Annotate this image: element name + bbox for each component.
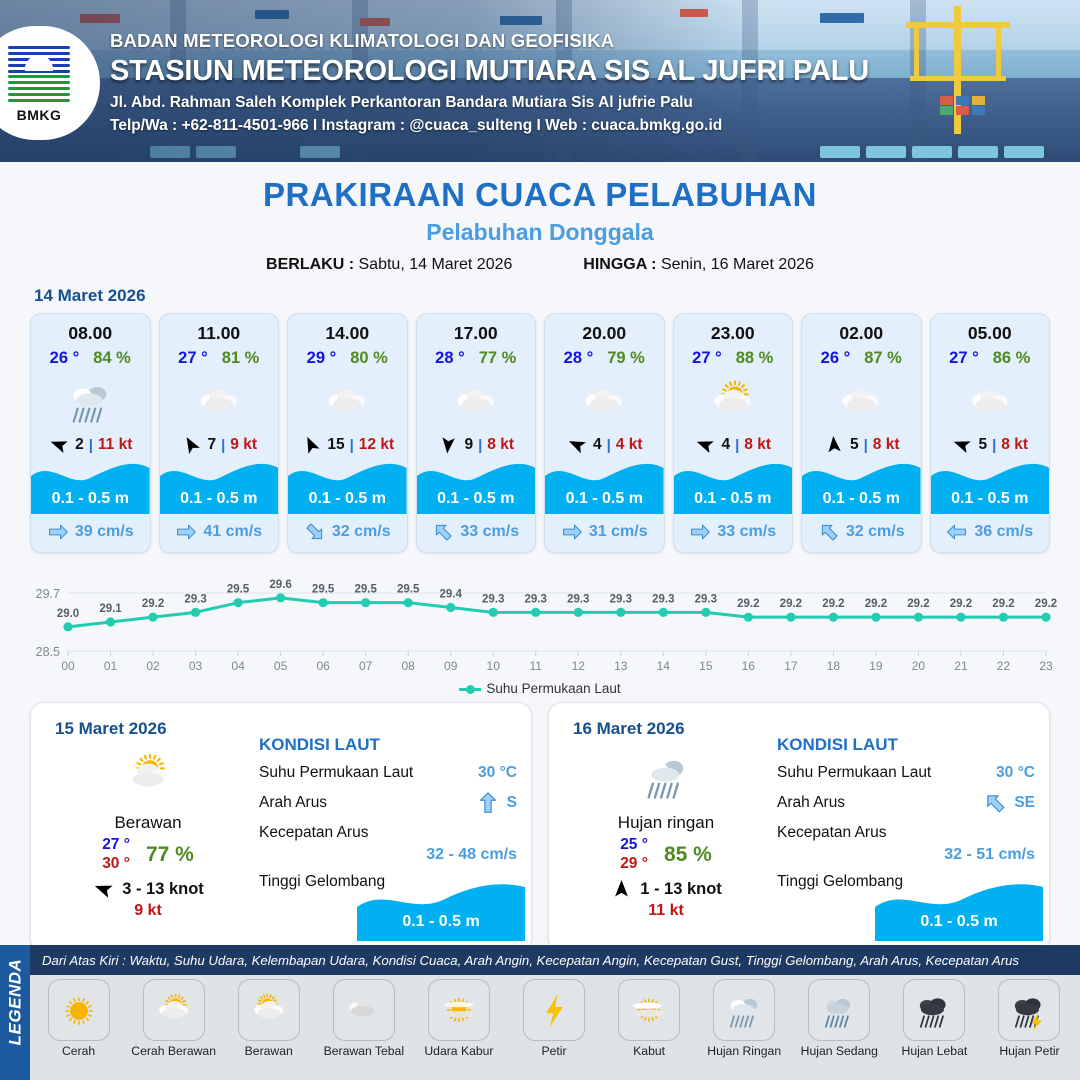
svg-text:29.3: 29.3: [610, 593, 632, 605]
svg-text:22: 22: [997, 659, 1011, 673]
card-wind-row: 9|8 kt: [417, 436, 536, 454]
legend-icon-box: [143, 979, 205, 1041]
panel-temp-min: 27 °: [102, 836, 130, 854]
card-temp-hum-row: 28 °77 %: [417, 349, 536, 368]
hourly-card: 08.0026 °84 %2|11 kt0.1 - 0.5 m39 cm/s: [30, 313, 151, 553]
legend-icon-box: [523, 979, 585, 1041]
weather-icon-hujan-ringan: [633, 749, 699, 803]
card-wind-speed: 8 kt: [744, 436, 771, 454]
svg-text:01: 01: [104, 659, 118, 673]
wind-direction-icon: [566, 436, 588, 454]
svg-text:05: 05: [274, 659, 288, 673]
card-temperature: 26 °: [821, 349, 851, 368]
legend-icon-box: [808, 979, 870, 1041]
card-wind-row: 7|9 kt: [160, 436, 279, 454]
hourly-card: 23.0027 °88 %4|8 kt0.1 - 0.5 m33 cm/s: [673, 313, 794, 553]
svg-text:29.2: 29.2: [142, 598, 164, 610]
sst-chart-svg: 29.728.500010203040506070809101112131415…: [20, 567, 1060, 679]
card-wind-degree: 15: [327, 436, 344, 454]
berlaku-label: BERLAKU :: [266, 256, 354, 273]
weather-icon-berawan-sun: [244, 990, 294, 1031]
panel-sst-row: Suhu Permukaan Laut30 °C: [259, 764, 517, 782]
svg-text:29.2: 29.2: [737, 598, 759, 610]
svg-text:15: 15: [699, 659, 713, 673]
panel-humidity: 77 %: [146, 843, 194, 867]
card-wind-separator: |: [864, 437, 868, 454]
card-hour: 11.00: [160, 323, 279, 344]
weather-icon-hujan-ringan: [719, 990, 769, 1031]
chart-legend-label: Suhu Permukaan Laut: [486, 681, 620, 696]
panel-wave-value: 0.1 - 0.5 m: [875, 913, 1043, 931]
panel-temps: 25 °29 °: [620, 836, 648, 873]
legend-item-label: Hujan Sedang: [795, 1044, 884, 1058]
legend-item: Cerah: [34, 979, 123, 1058]
svg-text:11: 11: [530, 659, 543, 673]
card-wind-speed: 11 kt: [98, 436, 132, 454]
page-subtitle: Pelabuhan Donggala: [0, 219, 1080, 246]
card-temperature: 26 °: [50, 349, 80, 368]
card-wave-height: 0.1 - 0.5 m: [31, 490, 150, 508]
panel-current-dir-value: SE: [1014, 794, 1035, 812]
legend-side-label: LEGENDA: [6, 955, 26, 1050]
svg-text:12: 12: [572, 659, 586, 673]
card-hour: 14.00: [288, 323, 407, 344]
panel-left-block: Hujan ringan25 °29 °85 %1 - 13 knot11 kt: [561, 745, 771, 920]
legend-caption: Dari Atas Kiri : Waktu, Suhu Udara, Kele…: [30, 945, 1080, 975]
svg-text:23: 23: [1039, 659, 1053, 673]
card-current-speed: 41 cm/s: [203, 523, 262, 541]
svg-text:29.2: 29.2: [780, 598, 802, 610]
header-text-block: BADAN METEOROLOGI KLIMATOLOGI DAN GEOFIS…: [110, 30, 869, 135]
card-wind-arrow: [437, 436, 459, 454]
current-direction-icon: [476, 791, 500, 815]
current-direction-icon: [304, 521, 326, 543]
legend-item: Kabut: [605, 979, 694, 1058]
card-wind-arrow: [951, 436, 973, 454]
card-wind-speed: 8 kt: [1001, 436, 1028, 454]
card-weather-icon: [31, 370, 150, 432]
card-wind-arrow: [300, 436, 322, 454]
legend-icon-box: [48, 979, 110, 1041]
card-wave-height: 0.1 - 0.5 m: [674, 490, 793, 508]
panel-date: 15 Maret 2026: [55, 719, 167, 739]
wind-direction-icon: [437, 436, 459, 454]
header-chair: [866, 146, 906, 158]
header-chair: [958, 146, 998, 158]
header-container: [972, 96, 985, 105]
panel-current-spd-value: 32 - 48 cm/s: [259, 846, 517, 864]
card-current-speed: 33 cm/s: [717, 523, 776, 541]
page-header: BMKG BADAN METEOROLOGI KLIMATOLOGI DAN G…: [0, 0, 1080, 162]
card-wind-separator: |: [992, 437, 996, 454]
wind-direction-icon: [951, 436, 973, 454]
svg-text:29.6: 29.6: [269, 579, 291, 591]
svg-text:29.3: 29.3: [525, 593, 547, 605]
panel-temp-max: 29 °: [620, 855, 648, 873]
legend-item-label: Kabut: [605, 1044, 694, 1058]
panel-sea-title: KONDISI LAUT: [259, 735, 517, 755]
card-temp-hum-row: 27 °88 %: [674, 349, 793, 368]
card-temp-hum-row: 26 °84 %: [31, 349, 150, 368]
card-wind-speed: 8 kt: [873, 436, 900, 454]
card-wind-separator: |: [221, 437, 225, 454]
panel-current-dir-label: Arah Arus: [777, 794, 845, 812]
card-wave-height: 0.1 - 0.5 m: [417, 490, 536, 508]
svg-text:17: 17: [784, 659, 798, 673]
legend-item: Berawan Tebal: [319, 979, 408, 1058]
panel-current-dir-value-wrap: S: [476, 791, 517, 815]
panel-current-dir-row: Arah ArusS: [259, 791, 517, 815]
card-temperature: 27 °: [692, 349, 722, 368]
svg-text:13: 13: [614, 659, 628, 673]
card-temperature: 28 °: [435, 349, 465, 368]
current-direction-icon: [689, 521, 711, 543]
card-wind-arrow: [180, 436, 202, 454]
panel-wind-row: 3 - 13 knot: [43, 880, 253, 899]
legend-icon-box: [618, 979, 680, 1041]
svg-text:29.3: 29.3: [567, 593, 589, 605]
panel-temp-hum-row: 25 °29 °85 %: [561, 836, 771, 873]
svg-text:08: 08: [401, 659, 415, 673]
svg-text:29.1: 29.1: [99, 603, 122, 615]
panel-gust: 11 kt: [561, 902, 771, 920]
header-container: [972, 106, 985, 115]
daily-panel: 15 Maret 2026Berawan27 °30 °77 %3 - 13 k…: [30, 702, 532, 952]
header-container: [940, 106, 953, 115]
card-temperature: 29 °: [307, 349, 337, 368]
hourly-date-label: 14 Maret 2026: [34, 286, 1080, 306]
card-temp-hum-row: 27 °86 %: [931, 349, 1050, 368]
hourly-card: 02.0026 °87 %5|8 kt0.1 - 0.5 m32 cm/s: [801, 313, 922, 553]
current-direction-icon: [946, 521, 968, 543]
legend-item-label: Berawan: [224, 1044, 313, 1058]
weather-icon-hujan-sedang: [814, 990, 864, 1031]
current-direction-icon: [432, 521, 454, 543]
card-humidity: 88 %: [736, 349, 774, 368]
panel-wind-range: 3 - 13 knot: [122, 880, 204, 899]
svg-text:20: 20: [912, 659, 926, 673]
svg-text:29.2: 29.2: [865, 598, 887, 610]
card-wind-separator: |: [607, 437, 611, 454]
card-wind-speed: 12 kt: [359, 436, 394, 454]
sst-chart: 29.728.500010203040506070809101112131415…: [20, 567, 1060, 679]
card-weather-icon: [931, 370, 1050, 432]
panel-temp-max: 30 °: [102, 855, 130, 873]
card-temp-hum-row: 29 °80 %: [288, 349, 407, 368]
card-wind-degree: 9: [464, 436, 473, 454]
svg-text:29.0: 29.0: [57, 608, 79, 620]
card-temp-hum-row: 26 °87 %: [802, 349, 921, 368]
svg-text:29.4: 29.4: [440, 589, 463, 601]
hourly-card: 17.0028 °77 %9|8 kt0.1 - 0.5 m33 cm/s: [416, 313, 537, 553]
panel-current-spd-label: Kecepatan Arus: [259, 824, 368, 842]
panel-current-spd-label: Kecepatan Arus: [777, 824, 886, 842]
card-current-row: 39 cm/s: [31, 521, 150, 543]
card-humidity: 80 %: [350, 349, 388, 368]
panel-temp-hum-row: 27 °30 °77 %: [43, 836, 253, 873]
svg-text:29.2: 29.2: [1035, 598, 1057, 610]
weather-icon-hujan-lebat: [909, 990, 959, 1031]
card-humidity: 81 %: [222, 349, 260, 368]
svg-text:28.5: 28.5: [36, 645, 60, 659]
panel-sst-row: Suhu Permukaan Laut30 °C: [777, 764, 1035, 782]
hourly-card: 11.0027 °81 %7|9 kt0.1 - 0.5 m41 cm/s: [159, 313, 280, 553]
agency-name: BADAN METEOROLOGI KLIMATOLOGI DAN GEOFIS…: [110, 30, 869, 52]
panel-current-spd-row: Kecepatan Arus: [259, 824, 517, 842]
hourly-forecast-row: 08.0026 °84 %2|11 kt0.1 - 0.5 m39 cm/s11…: [0, 313, 1080, 553]
legend-icon-box: [333, 979, 395, 1041]
legend-side-bar: LEGENDA: [0, 945, 30, 1080]
panel-wave-shape-icon: [357, 881, 525, 941]
svg-text:29.5: 29.5: [227, 584, 250, 596]
card-wind-degree: 4: [721, 436, 730, 454]
panel-current-dir-label: Arah Arus: [259, 794, 327, 812]
legend-item-label: Hujan Petir: [985, 1044, 1074, 1058]
station-name: STASIUN METEOROLOGI MUTIARA SIS AL JUFRI…: [110, 55, 869, 88]
weather-icon-petir: [529, 990, 579, 1031]
card-current-speed: 36 cm/s: [974, 523, 1033, 541]
card-wind-row: 15|12 kt: [288, 436, 407, 454]
card-current-row: 31 cm/s: [545, 521, 664, 543]
panel-left-block: Berawan27 °30 °77 %3 - 13 knot9 kt: [43, 745, 253, 920]
legend-item-label: Cerah Berawan: [129, 1044, 218, 1058]
card-wave-height: 0.1 - 0.5 m: [802, 490, 921, 508]
station-address: Jl. Abd. Rahman Saleh Komplek Perkantora…: [110, 94, 869, 112]
card-wind-degree: 5: [850, 436, 859, 454]
legend-item: Hujan Sedang: [795, 979, 884, 1058]
legend-items-row: CerahCerah BerawanBerawanBerawan TebalUd…: [34, 979, 1074, 1058]
hourly-card: 20.0028 °79 %4|4 kt0.1 - 0.5 m31 cm/s: [544, 313, 665, 553]
panel-wind-row: 1 - 13 knot: [561, 880, 771, 899]
svg-text:09: 09: [444, 659, 458, 673]
legend-item: Cerah Berawan: [129, 979, 218, 1058]
card-hour: 23.00: [674, 323, 793, 344]
svg-text:29.2: 29.2: [950, 598, 972, 610]
svg-text:02: 02: [146, 659, 160, 673]
current-direction-icon: [561, 521, 583, 543]
validity-row: BERLAKU : Sabtu, 14 Maret 2026 HINGGA : …: [0, 256, 1080, 274]
legend-icon-box: [428, 979, 490, 1041]
card-wind-separator: |: [478, 437, 482, 454]
legend-item: Hujan Lebat: [890, 979, 979, 1058]
panel-wave-value: 0.1 - 0.5 m: [357, 913, 525, 931]
card-weather-icon: [288, 370, 407, 432]
svg-text:16: 16: [742, 659, 756, 673]
card-weather-icon: [545, 370, 664, 432]
svg-text:07: 07: [359, 659, 373, 673]
weather-icon-hujan-ringan: [59, 376, 121, 427]
card-wind-degree: 5: [978, 436, 987, 454]
header-ship: [820, 13, 864, 23]
card-hour: 02.00: [802, 323, 921, 344]
card-wind-arrow: [694, 436, 716, 454]
legend-item: Udara Kabur: [414, 979, 503, 1058]
card-wind-arrow: [48, 436, 70, 454]
card-wind-arrow: [823, 436, 845, 454]
card-temperature: 28 °: [564, 349, 594, 368]
card-current-speed: 33 cm/s: [460, 523, 519, 541]
weather-icon-kabut: [624, 990, 674, 1031]
card-weather-icon: [674, 370, 793, 432]
wind-direction-icon: [610, 880, 633, 898]
panel-condition: Berawan: [43, 813, 253, 833]
card-wind-arrow: [566, 436, 588, 454]
svg-text:29.3: 29.3: [652, 593, 674, 605]
legend-icon-box: [998, 979, 1060, 1041]
wind-direction-icon: [92, 880, 115, 898]
card-wind-separator: |: [350, 437, 354, 454]
card-temperature: 27 °: [178, 349, 208, 368]
panel-wave-shape-icon: [875, 881, 1043, 941]
legend-item-label: Petir: [509, 1044, 598, 1058]
legend-item-label: Udara Kabur: [414, 1044, 503, 1058]
header-crane-icon: [900, 6, 1020, 136]
wind-direction-icon: [48, 436, 70, 454]
card-wind-degree: 4: [593, 436, 602, 454]
header-container: [956, 106, 969, 115]
header-container: [956, 96, 969, 105]
card-wind-degree: 2: [75, 436, 84, 454]
card-wave-height: 0.1 - 0.5 m: [545, 490, 664, 508]
panel-current-dir-row: Arah ArusSE: [777, 791, 1035, 815]
daily-panels-row: 15 Maret 2026Berawan27 °30 °77 %3 - 13 k…: [0, 696, 1080, 952]
wind-direction-icon: [694, 436, 716, 454]
card-humidity: 77 %: [479, 349, 517, 368]
header-container: [940, 96, 953, 105]
legend-icon-box: [903, 979, 965, 1041]
card-humidity: 86 %: [993, 349, 1031, 368]
svg-text:18: 18: [827, 659, 841, 673]
legend-item-label: Berawan Tebal: [319, 1044, 408, 1058]
panel-current-dir-value: S: [507, 794, 517, 812]
current-direction-icon: [983, 791, 1007, 815]
card-current-speed: 32 cm/s: [332, 523, 391, 541]
card-wind-degree: 7: [207, 436, 216, 454]
hourly-card: 14.0029 °80 %15|12 kt0.1 - 0.5 m32 cm/s: [287, 313, 408, 553]
page-title: PRAKIRAAN CUACA PELABUHAN: [0, 176, 1080, 214]
wind-direction-icon: [180, 436, 202, 454]
card-wind-speed: 8 kt: [487, 436, 514, 454]
panel-sst-value: 30 °C: [478, 764, 517, 782]
svg-text:00: 00: [61, 659, 75, 673]
title-section: PRAKIRAAN CUACA PELABUHAN Pelabuhan Dong…: [0, 162, 1080, 274]
bmkg-emblem-icon: [8, 43, 70, 105]
card-wave-height: 0.1 - 0.5 m: [160, 490, 279, 508]
svg-text:04: 04: [231, 659, 245, 673]
svg-text:29.7: 29.7: [36, 587, 60, 601]
card-humidity: 84 %: [93, 349, 131, 368]
station-contact: Telp/Wa : +62-811-4501-966 I Instagram :…: [110, 117, 869, 135]
panel-gust: 9 kt: [43, 902, 253, 920]
weather-icon-cerah-berawan: [702, 376, 764, 427]
legend-item: Hujan Petir: [985, 979, 1074, 1058]
svg-text:21: 21: [954, 659, 968, 673]
chart-legend: Suhu Permukaan Laut: [0, 681, 1080, 696]
card-wave-height: 0.1 - 0.5 m: [288, 490, 407, 508]
card-wind-speed: 9 kt: [230, 436, 257, 454]
card-humidity: 87 %: [864, 349, 902, 368]
card-current-row: 33 cm/s: [674, 521, 793, 543]
legend-icon-box: [238, 979, 300, 1041]
weather-icon-berawan: [445, 376, 507, 427]
weather-icon-berawan: [830, 376, 892, 427]
card-wind-row: 5|8 kt: [802, 436, 921, 454]
weather-icon-hujan-petir: [1004, 990, 1054, 1031]
current-direction-icon: [818, 521, 840, 543]
card-temp-hum-row: 27 °81 %: [160, 349, 279, 368]
weather-icon-berawan: [959, 376, 1021, 427]
hingga-value: Senin, 16 Maret 2026: [661, 256, 814, 273]
card-temperature: 27 °: [949, 349, 979, 368]
card-current-row: 33 cm/s: [417, 521, 536, 543]
panel-humidity: 85 %: [664, 843, 712, 867]
card-current-row: 32 cm/s: [802, 521, 921, 543]
card-hour: 17.00: [417, 323, 536, 344]
svg-text:10: 10: [487, 659, 501, 673]
panel-sst-label: Suhu Permukaan Laut: [777, 764, 931, 782]
card-hour: 20.00: [545, 323, 664, 344]
bmkg-logo-text: BMKG: [17, 107, 62, 123]
card-weather-icon: [417, 370, 536, 432]
weather-icon-cerah-berawan: [149, 990, 199, 1031]
svg-text:29.5: 29.5: [312, 584, 335, 596]
panel-weather-icon: [561, 745, 771, 807]
card-current-speed: 39 cm/s: [75, 523, 134, 541]
panel-right-block: KONDISI LAUTSuhu Permukaan Laut30 °CArah…: [259, 735, 517, 891]
wind-direction-icon: [823, 436, 845, 454]
daily-panel: 16 Maret 2026Hujan ringan25 °29 °85 %1 -…: [548, 702, 1050, 952]
panel-temps: 27 °30 °: [102, 836, 130, 873]
svg-text:29.5: 29.5: [354, 584, 377, 596]
card-wave-height: 0.1 - 0.5 m: [931, 490, 1050, 508]
card-wind-row: 4|4 kt: [545, 436, 664, 454]
panel-right-block: KONDISI LAUTSuhu Permukaan Laut30 °CArah…: [777, 735, 1035, 891]
weather-icon-udara-kabur: [434, 990, 484, 1031]
svg-text:29.3: 29.3: [184, 593, 206, 605]
card-weather-icon: [802, 370, 921, 432]
legend-section: LEGENDA Dari Atas Kiri : Waktu, Suhu Uda…: [0, 945, 1080, 1080]
svg-text:06: 06: [316, 659, 330, 673]
wind-direction-icon: [300, 436, 322, 454]
weather-icon-cerah: [54, 990, 104, 1031]
weather-icon-cerah-berawan: [115, 749, 181, 803]
legend-item: Berawan: [224, 979, 313, 1058]
card-current-row: 32 cm/s: [288, 521, 407, 543]
current-direction-icon: [47, 521, 69, 543]
svg-text:03: 03: [189, 659, 203, 673]
svg-text:14: 14: [657, 659, 671, 673]
card-current-speed: 32 cm/s: [846, 523, 905, 541]
card-wind-row: 4|8 kt: [674, 436, 793, 454]
panel-wave-graphic: 0.1 - 0.5 m: [357, 881, 525, 941]
hingga-label: HINGGA :: [583, 256, 656, 273]
svg-text:29.2: 29.2: [822, 598, 844, 610]
card-wind-row: 5|8 kt: [931, 436, 1050, 454]
card-current-speed: 31 cm/s: [589, 523, 648, 541]
card-humidity: 79 %: [607, 349, 645, 368]
legend-icon-box: [713, 979, 775, 1041]
svg-text:29.3: 29.3: [482, 593, 504, 605]
panel-wave-graphic: 0.1 - 0.5 m: [875, 881, 1043, 941]
panel-current-spd-value: 32 - 51 cm/s: [777, 846, 1035, 864]
svg-text:29.2: 29.2: [907, 598, 929, 610]
legend-item: Hujan Ringan: [700, 979, 789, 1058]
card-hour: 05.00: [931, 323, 1050, 344]
legend-item-label: Hujan Ringan: [700, 1044, 789, 1058]
card-temp-hum-row: 28 °79 %: [545, 349, 664, 368]
header-chair: [912, 146, 952, 158]
current-direction-icon: [175, 521, 197, 543]
